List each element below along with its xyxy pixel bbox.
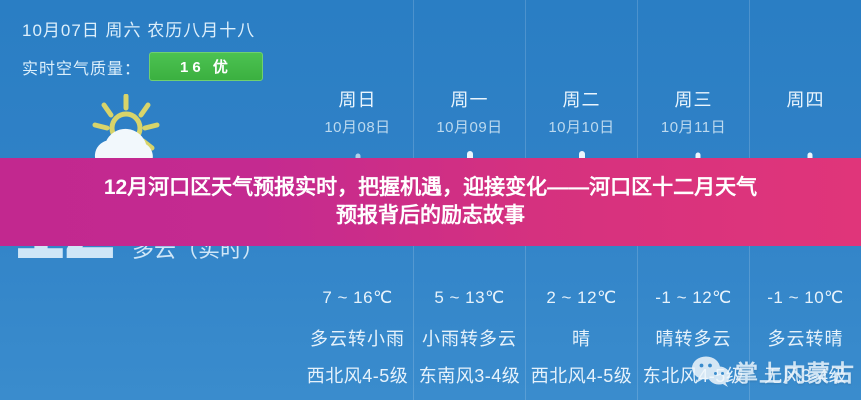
forecast-weekday: 周二 [526, 86, 637, 112]
air-quality-label: 实时空气质量： [22, 55, 141, 79]
forecast-temp-range: 2 ~ 12℃ [526, 288, 637, 308]
forecast-weekday: 周三 [638, 86, 749, 112]
forecast-condition: 多云转小雨 [302, 325, 413, 351]
forecast-weekday: 周日 [302, 86, 413, 112]
watermark: 掌上内蒙古 [691, 354, 855, 388]
forecast-date: 10月09日 [414, 116, 525, 137]
forecast-wind: 西北风4-5级 [526, 362, 637, 388]
forecast-temp-range: -1 ~ 10℃ [750, 288, 861, 308]
article-title-line-1: 12月河口区天气预报实时，把握机遇，迎接变化——河口区十二月天气 [104, 174, 757, 202]
forecast-date: 10月10日 [526, 116, 637, 137]
forecast-weekday: 周一 [414, 86, 525, 112]
header: 10月07日 周六 农历八月十八 实时空气质量： 16 优 [0, 0, 300, 92]
watermark-label: 掌上内蒙古 [735, 354, 855, 388]
wechat-icon [691, 355, 731, 387]
forecast-temp-range: 7 ~ 16℃ [302, 288, 413, 308]
forecast-date: 10月11日 [638, 116, 749, 137]
forecast-wind: 西北风4-5级 [302, 362, 413, 388]
forecast-temp-range: -1 ~ 12℃ [638, 288, 749, 308]
current-conditions-panel: 12 ℃ 多云（实时） [0, 92, 302, 400]
current-date-label: 10月07日 周六 农历八月十八 [22, 16, 255, 41]
forecast-weekday: 周四 [750, 86, 861, 112]
air-quality-badge: 16 优 [149, 52, 263, 81]
forecast-condition: 小雨转多云 [414, 325, 525, 351]
article-title-banner: 12月河口区天气预报实时，把握机遇，迎接变化——河口区十二月天气 预报背后的励志… [0, 158, 861, 246]
forecast-condition: 多云转晴 [750, 325, 861, 351]
forecast-date: 10月08日 [302, 116, 413, 137]
article-title-line-2: 预报背后的励志故事 [336, 202, 525, 230]
forecast-wind: 东南风3-4级 [414, 362, 525, 388]
forecast-temp-range: 5 ~ 13℃ [414, 288, 525, 308]
weather-forecast-screen: 10月07日 周六 农历八月十八 实时空气质量： 16 优 [0, 0, 861, 400]
forecast-condition: 晴 [526, 325, 637, 351]
air-quality-row: 实时空气质量： 16 优 [22, 52, 263, 81]
forecast-condition: 晴转多云 [638, 325, 749, 351]
